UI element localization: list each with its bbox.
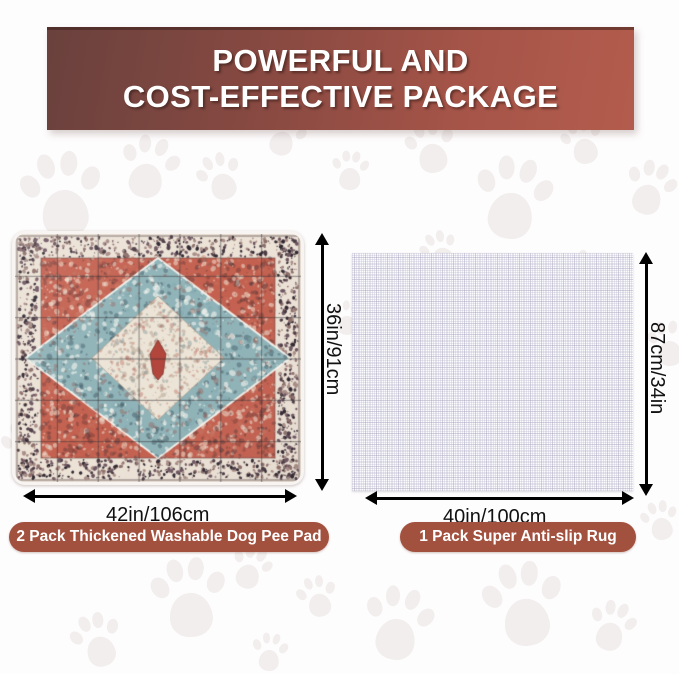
paw-print-icon <box>291 570 344 625</box>
pee-pad-width-arrow-right <box>285 489 297 503</box>
paw-print-icon <box>109 128 188 210</box>
paw-print-icon <box>62 605 133 674</box>
anti-slip-width-arrow-right <box>622 491 634 505</box>
rug-pattern-canvas <box>15 234 301 482</box>
pee-pad-width-dimension-line <box>35 495 285 498</box>
persian-rug-artwork <box>15 234 301 482</box>
pee-pad-product-image <box>12 231 304 485</box>
anti-slip-product-image <box>352 253 633 491</box>
paw-print-icon <box>579 594 644 661</box>
paw-print-icon <box>189 145 253 211</box>
anti-slip-caption-pill: 1 Pack Super Anti-slip Rug <box>400 522 636 552</box>
banner-title-line-2: COST-EFFECTIVE PACKAGE <box>123 79 558 114</box>
paw-print-icon <box>636 496 679 547</box>
paw-print-icon <box>473 554 575 660</box>
paw-print-icon <box>328 148 372 194</box>
anti-slip-width-arrow-left <box>365 491 377 505</box>
anti-slip-height-label: 87cm/34in <box>645 322 668 414</box>
pee-pad-height-label: 36in/91cm <box>321 303 344 395</box>
paw-print-icon <box>247 629 292 674</box>
infographic-page: POWERFUL AND COST-EFFECTIVE PACKAGE 36in… <box>0 0 679 674</box>
paw-print-icon <box>463 148 563 252</box>
anti-slip-height-arrow-top <box>639 252 653 264</box>
anti-slip-height-arrow-bottom <box>639 484 653 496</box>
paw-print-icon <box>352 578 444 673</box>
pee-pad-height-arrow-top <box>315 233 329 245</box>
pee-pad-height-arrow-bottom <box>315 479 329 491</box>
header-banner: POWERFUL AND COST-EFFECTIVE PACKAGE <box>47 27 634 130</box>
paw-print-icon <box>614 153 679 226</box>
banner-title-line-1: POWERFUL AND <box>212 43 468 78</box>
pee-pad-width-arrow-left <box>23 489 35 503</box>
paw-print-icon <box>144 552 235 648</box>
anti-slip-width-dimension-line <box>377 497 622 500</box>
pee-pad-caption-pill: 2 Pack Thickened Washable Dog Pee Pad <box>9 522 329 552</box>
